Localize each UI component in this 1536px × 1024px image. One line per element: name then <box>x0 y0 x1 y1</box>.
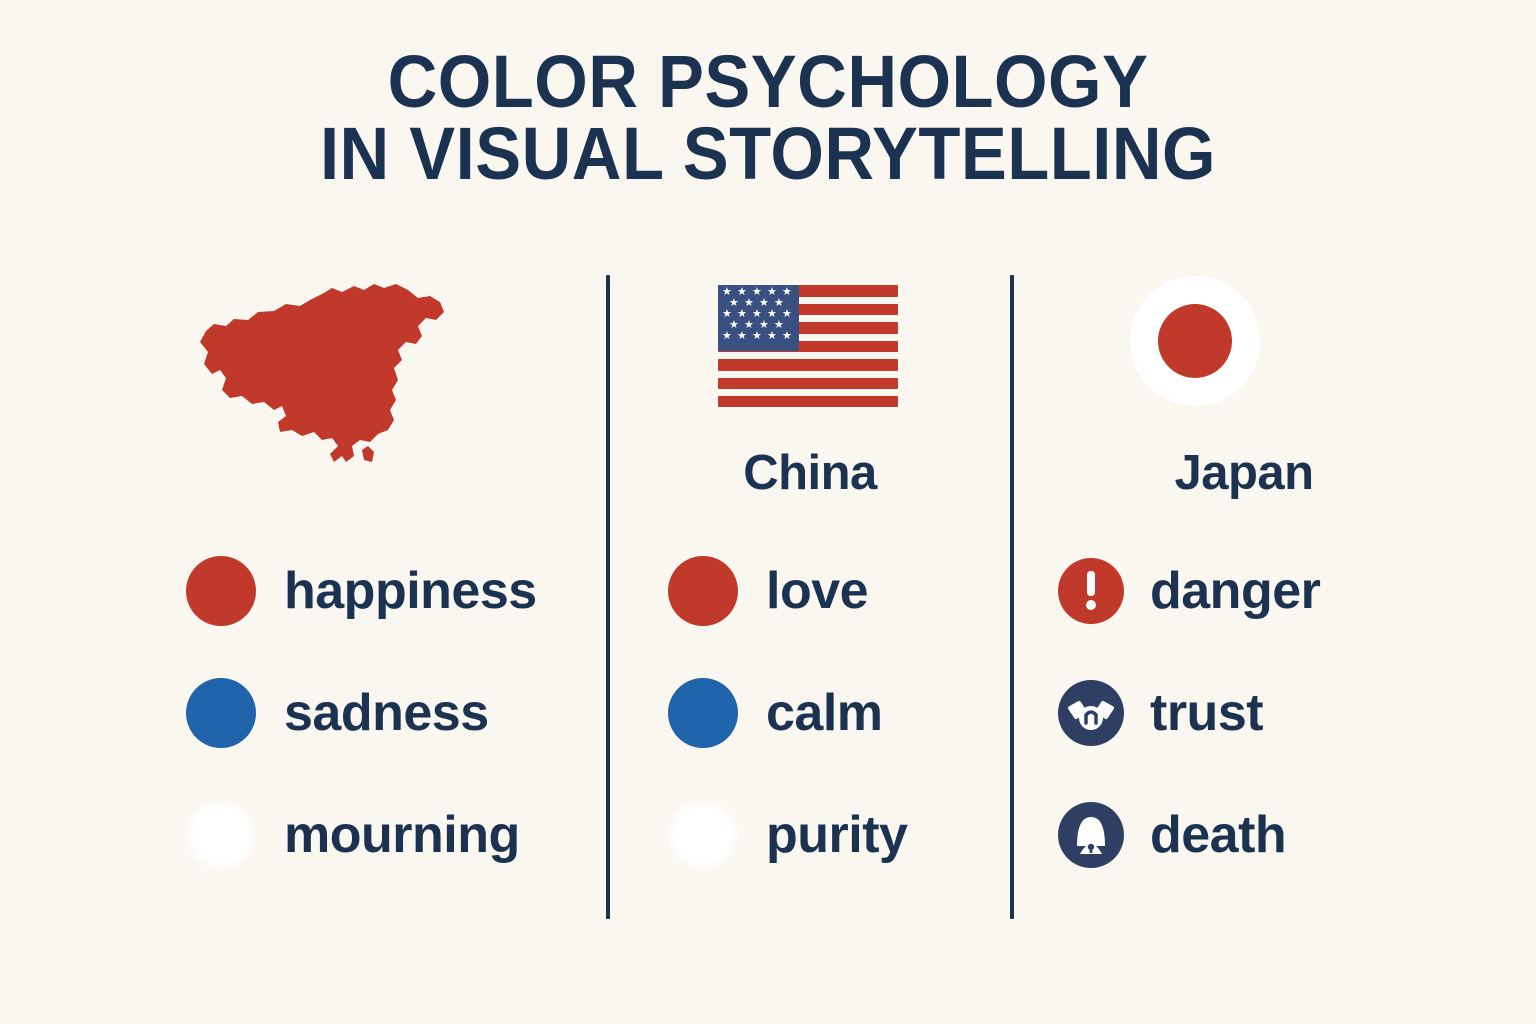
legend-row: mourning <box>60 774 606 896</box>
page-title: COLOR PSYCHOLOGY IN VISUAL STORYTELLING <box>54 46 1482 190</box>
legend-row: sadness <box>60 652 606 774</box>
legend-label: mourning <box>284 805 520 865</box>
us-flag-canton: ★ ★ ★ ★ ★ ★ ★ ★ ★ ★ ★ ★ ★ ★ ★ <box>718 285 799 351</box>
legend-label: happiness <box>284 561 537 621</box>
legend-label: calm <box>766 683 883 743</box>
legend-row: love <box>610 530 1010 652</box>
legend-row: trust <box>1014 652 1474 774</box>
column-2-legend: love calm purity <box>610 530 1010 896</box>
red-dot-icon <box>186 556 256 626</box>
legend-label: love <box>766 561 868 621</box>
column-2-emblem: ★ ★ ★ ★ ★ ★ ★ ★ ★ ★ ★ ★ ★ ★ ★ <box>610 262 1010 442</box>
japan-flag-icon <box>1130 276 1260 406</box>
column-1: happiness sadness mourning <box>60 262 606 942</box>
blue-dot-icon <box>668 678 738 748</box>
column-2: ★ ★ ★ ★ ★ ★ ★ ★ ★ ★ ★ ★ ★ ★ ★ <box>610 262 1010 942</box>
legend-row: danger <box>1014 530 1474 652</box>
title-line-2: IN VISUAL STORYTELLING <box>54 118 1482 190</box>
legend-row: death <box>1014 774 1474 896</box>
column-3: Japan danger <box>1014 262 1474 942</box>
legend-label: danger <box>1150 561 1320 621</box>
infographic-poster: COLOR PSYCHOLOGY IN VISUAL STORYTELLING <box>0 0 1536 1024</box>
legend-row: purity <box>610 774 1010 896</box>
column-1-legend: happiness sadness mourning <box>60 530 606 896</box>
us-flag-icon: ★ ★ ★ ★ ★ ★ ★ ★ ★ ★ ★ ★ ★ ★ ★ <box>718 285 898 407</box>
columns-container: happiness sadness mourning <box>0 262 1536 942</box>
legend-row: calm <box>610 652 1010 774</box>
column-3-legend: danger trust <box>1014 530 1474 896</box>
column-3-emblem <box>1014 262 1474 442</box>
legend-row: happiness <box>60 530 606 652</box>
white-dot-icon <box>186 800 256 870</box>
alert-exclamation-icon <box>1056 556 1126 626</box>
legend-label: sadness <box>284 683 489 743</box>
column-3-country-label: Japan <box>1014 445 1474 501</box>
lock-arch-icon <box>1056 800 1126 870</box>
legend-label: death <box>1150 805 1286 865</box>
red-dot-icon <box>668 556 738 626</box>
handshake-icon <box>1056 678 1126 748</box>
legend-label: purity <box>766 805 907 865</box>
title-line-1: COLOR PSYCHOLOGY <box>54 46 1482 118</box>
column-2-country-label: China <box>610 445 1010 501</box>
legend-label: trust <box>1150 683 1263 743</box>
blue-dot-icon <box>186 678 256 748</box>
white-dot-icon <box>668 800 738 870</box>
japan-flag-disc <box>1158 304 1232 378</box>
column-1-emblem <box>60 262 606 442</box>
china-map-icon <box>182 270 482 486</box>
